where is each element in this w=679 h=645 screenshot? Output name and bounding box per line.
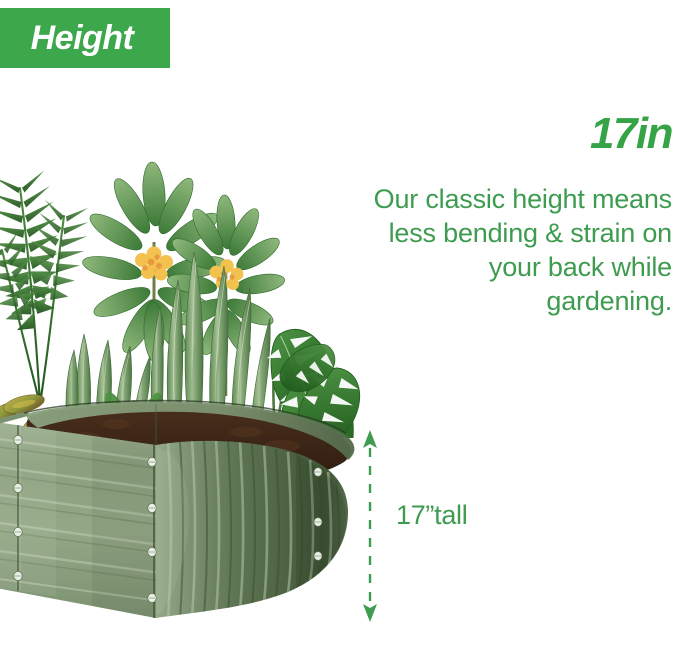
height-dimension-annotation: 17”tall (360, 428, 560, 624)
raised-garden-bed (0, 380, 376, 640)
headline-measurement: 17in (372, 112, 672, 156)
description-text: Our classic height means less bending & … (372, 182, 672, 318)
height-badge: Height (0, 8, 170, 68)
planter-side-panel (0, 422, 160, 618)
height-badge-label: Height (31, 21, 140, 55)
infographic-canvas: Height (0, 0, 679, 644)
copy-block: 17in Our classic height means less bendi… (372, 112, 672, 318)
dimension-arrow-icon (360, 428, 400, 624)
planter-end-panel (156, 440, 348, 620)
dimension-label: 17”tall (396, 500, 467, 531)
